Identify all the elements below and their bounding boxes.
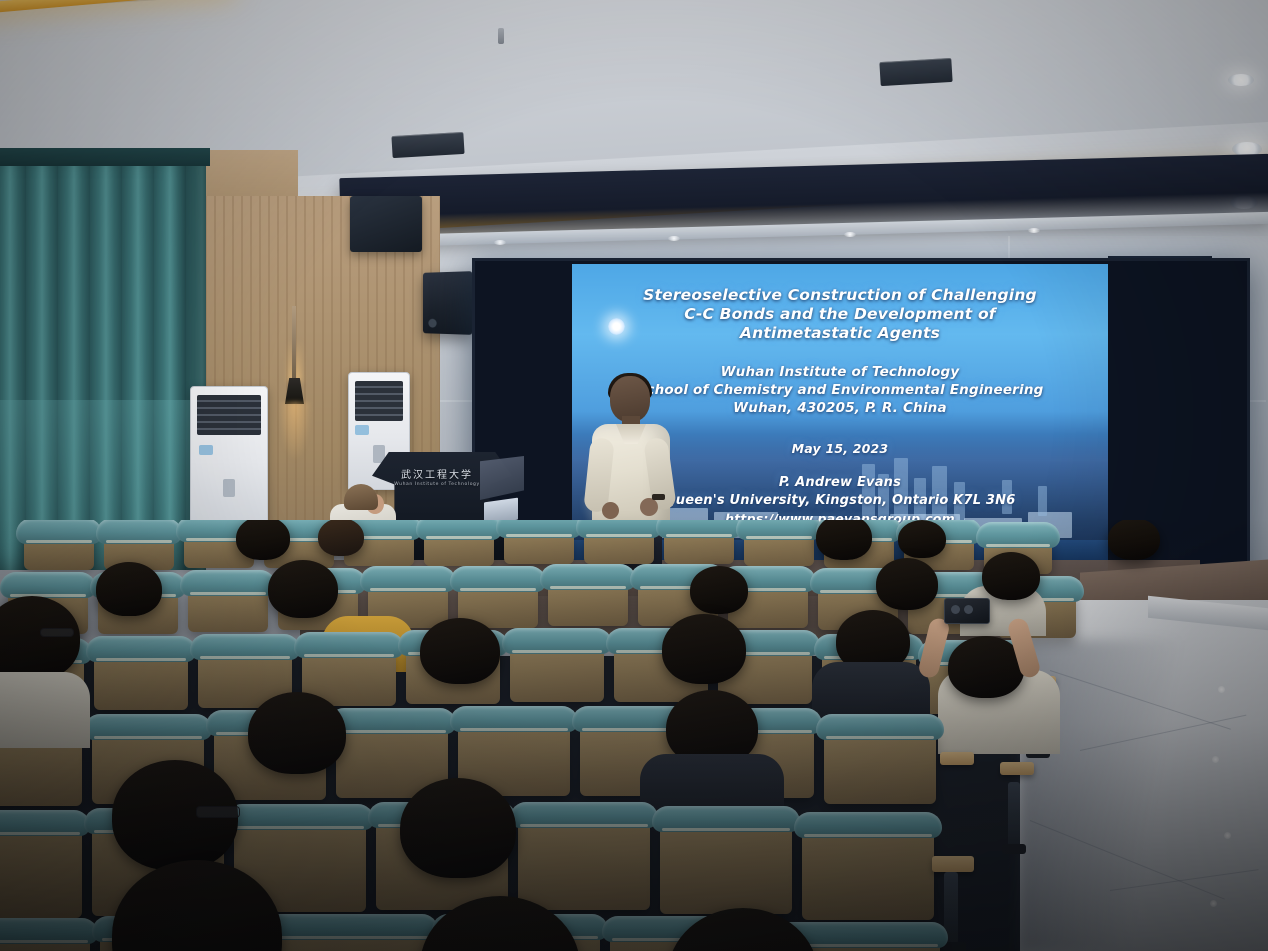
seat[interactable] xyxy=(510,638,604,702)
attendee-head xyxy=(876,558,938,610)
lecture-hall-photo: Stereoselective Construction of Challeng… xyxy=(0,0,1268,951)
presenter-wristwatch xyxy=(652,494,665,500)
ac-sticker xyxy=(355,425,369,435)
attendee-head xyxy=(318,520,364,556)
ac-grille xyxy=(197,395,261,435)
sconce-stem xyxy=(292,306,296,382)
curtain-track xyxy=(0,148,210,166)
sconce-downlight-glow xyxy=(278,402,312,462)
soffit-downlight xyxy=(1028,228,1040,233)
presenter-right-hand xyxy=(640,498,658,516)
sprinkler-head xyxy=(498,28,504,44)
seat[interactable] xyxy=(0,820,82,918)
slide-title-line-1: Stereoselective Construction of Challeng… xyxy=(572,286,1108,305)
attendee-head xyxy=(236,520,290,560)
audience-seating xyxy=(0,520,1268,951)
attendee-head xyxy=(690,566,748,614)
attendee-head xyxy=(400,778,516,878)
wall-speaker xyxy=(423,271,472,335)
seat-leg xyxy=(1008,782,1020,846)
seat[interactable] xyxy=(94,646,188,710)
attendee-hair xyxy=(344,484,378,510)
ac-control-panel[interactable] xyxy=(223,479,235,497)
lectern-logo-cn: 武汉工程大学 xyxy=(401,470,473,481)
seat[interactable] xyxy=(664,522,734,564)
ac-sticker xyxy=(199,445,213,455)
slide-title-line-3: Antimetastatic Agents xyxy=(572,324,1108,343)
seat[interactable] xyxy=(824,724,936,804)
wall-monitor xyxy=(350,196,422,252)
ac-grille xyxy=(355,381,403,421)
attendee-head xyxy=(662,614,746,684)
seat[interactable] xyxy=(424,524,494,566)
soffit-downlight xyxy=(668,236,680,241)
seat-armrest xyxy=(932,856,974,872)
seat-armrest xyxy=(940,752,974,765)
seat[interactable] xyxy=(270,924,430,951)
attendee-head xyxy=(248,692,346,774)
seat[interactable] xyxy=(660,816,792,914)
air-conditioner-unit xyxy=(190,386,268,524)
smartphone[interactable] xyxy=(944,598,990,624)
seat[interactable] xyxy=(802,822,934,920)
attendee-head xyxy=(898,520,946,558)
seat-foot xyxy=(1002,844,1026,854)
seat-armrest xyxy=(1000,762,1034,775)
attendee-shoulders xyxy=(0,672,90,748)
seat[interactable] xyxy=(0,928,90,951)
eyeglasses xyxy=(40,628,74,637)
ceiling-vent xyxy=(879,58,952,86)
soffit-downlight xyxy=(844,232,856,237)
seat[interactable] xyxy=(584,522,654,564)
slide-title-line-2: C-C Bonds and the Development of xyxy=(572,305,1108,324)
attendee-head xyxy=(268,560,338,618)
eyeglasses xyxy=(196,806,240,818)
ceiling-vent xyxy=(391,132,464,158)
ceiling-downlight xyxy=(1228,74,1254,86)
seat[interactable] xyxy=(548,574,628,626)
attendee-head xyxy=(1108,520,1160,560)
seat[interactable] xyxy=(504,522,574,564)
soffit-downlight xyxy=(494,240,506,245)
seat[interactable] xyxy=(518,812,650,910)
seat[interactable] xyxy=(744,524,814,566)
attendee-head xyxy=(982,552,1040,600)
attendee-head xyxy=(420,618,500,684)
presenter-left-hand xyxy=(602,502,619,519)
attendee-head xyxy=(816,520,872,560)
attendee-head-foreground xyxy=(668,908,818,951)
seat[interactable] xyxy=(24,528,94,570)
attendee-head xyxy=(96,562,162,616)
seat[interactable] xyxy=(188,580,268,632)
